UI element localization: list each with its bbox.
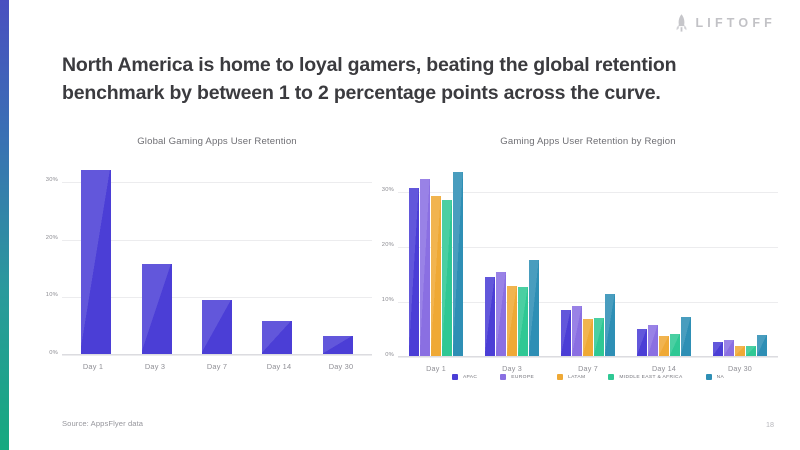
legend-label: EUROPE [511, 375, 534, 380]
bar[interactable]: 15.6% [142, 264, 172, 354]
bar[interactable]: 2.6% [713, 342, 723, 356]
bar-group[interactable]: 15.6% [126, 165, 186, 354]
bar[interactable]: 14.4% [485, 277, 495, 356]
bar[interactable]: 5.8% [262, 321, 292, 354]
bar[interactable]: 12.6% [518, 287, 528, 356]
bar-series-right: 30.6%32.3%29.1%28.4%33.5%14.4%15.4%12.7%… [398, 165, 778, 356]
bar[interactable]: 1.8% [735, 346, 745, 356]
bar-group[interactable]: 9.4% [187, 165, 247, 354]
bar-group[interactable]: 5.8% [247, 165, 307, 354]
bar[interactable]: 15.4% [496, 272, 506, 356]
x-tick-label: Day 1 [398, 357, 474, 373]
legend-item[interactable]: LATAM [557, 374, 585, 380]
x-tick-label: Day 7 [186, 355, 248, 371]
bar-group[interactable]: 14.4%15.4%12.7%12.6%17.5% [474, 165, 550, 356]
bar[interactable]: 29.1% [431, 196, 441, 356]
chart-title-left: Global Gaming Apps User Retention [62, 136, 372, 147]
bar[interactable]: 31.9% [81, 170, 111, 354]
bar-group[interactable]: 31.9% [66, 165, 126, 354]
logo-wordmark: LIFTOFF [695, 16, 776, 30]
plot-area-right: USER RETENTION 0%10%20%30% 30.6%32.3%29.… [398, 165, 778, 357]
legend-item[interactable]: APAC [452, 374, 477, 380]
bar[interactable]: 33.5% [453, 172, 463, 356]
chart-title-right: Gaming Apps User Retention by Region [398, 136, 778, 147]
y-tick-label: 30% [38, 177, 58, 183]
y-tick-label: 30% [374, 187, 394, 193]
liftoff-logo: LIFTOFF [675, 13, 776, 33]
bar-group[interactable]: 30.6%32.3%29.1%28.4%33.5% [398, 165, 474, 356]
y-tick-label: 10% [374, 297, 394, 303]
chart-global-retention: Global Gaming Apps User Retention USER R… [62, 136, 372, 366]
x-tick-label: Day 30 [310, 355, 372, 371]
bar[interactable]: 8.3% [561, 310, 571, 356]
bar-series-left: 31.9%15.6%9.4%5.8%3.1% [62, 165, 372, 354]
legend-swatch [452, 374, 458, 380]
y-tick-label: 10% [38, 292, 58, 298]
legend-swatch [500, 374, 506, 380]
legend-label: APAC [463, 375, 477, 380]
plot-area-left: USER RETENTION 0%10%20%30% 31.9%15.6%9.4… [62, 165, 372, 355]
legend-item[interactable]: EUROPE [500, 374, 534, 380]
bar-group[interactable]: 2.6%2.9%1.8%1.9%3.9% [702, 165, 778, 356]
bar-group[interactable]: 8.3%9.2%6.8%7.0%11.3% [550, 165, 626, 356]
legend-label: LATAM [568, 375, 585, 380]
bar[interactable]: 9.2% [572, 306, 582, 356]
bar[interactable]: 1.9% [746, 346, 756, 356]
bar[interactable]: 17.5% [529, 260, 539, 356]
x-tick-label: Day 30 [702, 357, 778, 373]
bar[interactable]: 7.2% [681, 317, 691, 356]
bar[interactable]: 5.6% [648, 325, 658, 356]
bar[interactable]: 3.1% [323, 336, 353, 354]
bar-group[interactable]: 3.1% [308, 165, 368, 354]
y-tick-label: 0% [38, 350, 58, 356]
x-axis-labels-right: Day 1Day 3Day 7Day 14Day 30 [398, 357, 778, 373]
bar[interactable]: 4.0% [670, 334, 680, 356]
x-tick-label: Day 3 [124, 355, 186, 371]
x-tick-label: Day 1 [62, 355, 124, 371]
rocket-icon [675, 13, 688, 33]
page-number: 18 [766, 420, 774, 429]
bar[interactable]: 32.3% [420, 179, 430, 356]
accent-stripe [0, 0, 9, 450]
y-tick-label: 0% [374, 352, 394, 358]
bar[interactable]: 9.4% [202, 300, 232, 354]
chart-retention-by-region: Gaming Apps User Retention by Region USE… [398, 136, 778, 398]
bar[interactable]: 5.0% [637, 329, 647, 356]
legend-swatch [706, 374, 712, 380]
x-tick-label: Day 14 [626, 357, 702, 373]
x-tick-label: Day 3 [474, 357, 550, 373]
legend-item[interactable]: NA [706, 374, 725, 380]
legend-label: NA [717, 375, 725, 380]
page-title: North America is home to loyal gamers, b… [62, 52, 772, 107]
bar[interactable]: 12.7% [507, 286, 517, 356]
bar[interactable]: 3.7% [659, 336, 669, 356]
x-tick-label: Day 7 [550, 357, 626, 373]
legend-item[interactable]: MIDDLE EAST & AFRICA [608, 374, 682, 380]
chart-legend: APACEUROPELATAMMIDDLE EAST & AFRICANA [398, 374, 778, 380]
bar-group[interactable]: 5.0%5.6%3.7%4.0%7.2% [626, 165, 702, 356]
x-tick-label: Day 14 [248, 355, 310, 371]
bar[interactable]: 2.9% [724, 340, 734, 356]
bar[interactable]: 7.0% [594, 318, 604, 356]
bar[interactable]: 11.3% [605, 294, 615, 356]
bar[interactable]: 30.6% [409, 188, 419, 356]
y-tick-label: 20% [374, 242, 394, 248]
bar[interactable]: 3.9% [757, 335, 767, 356]
source-note: Source: AppsFlyer data [62, 419, 143, 428]
bar[interactable]: 28.4% [442, 200, 452, 356]
legend-label: MIDDLE EAST & AFRICA [619, 375, 682, 380]
legend-swatch [608, 374, 614, 380]
bar[interactable]: 6.8% [583, 319, 593, 356]
legend-swatch [557, 374, 563, 380]
y-tick-label: 20% [38, 235, 58, 241]
x-axis-labels-left: Day 1Day 3Day 7Day 14Day 30 [62, 355, 372, 371]
